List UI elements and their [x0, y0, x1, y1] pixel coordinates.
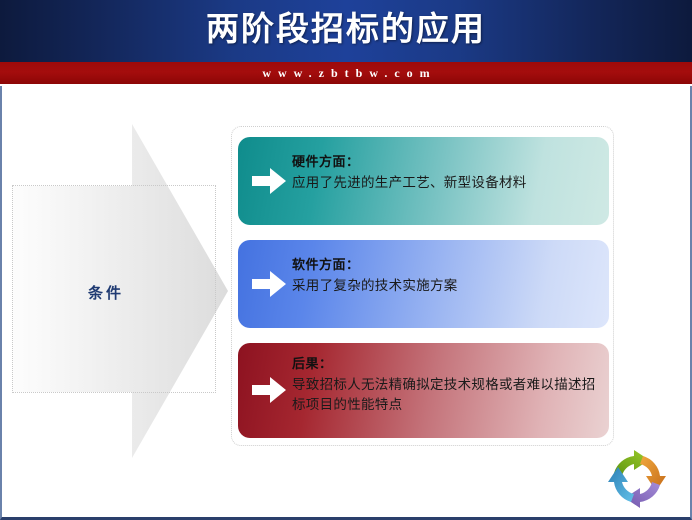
- card-body: 导致招标人无法精确拟定技术规格或者难以描述招标项目的性能特点: [292, 375, 599, 415]
- right-arrow-icon: [252, 376, 286, 404]
- website-url: www.zbtbw.com: [0, 62, 692, 84]
- cards-container: 硬件方面： 应用了先进的生产工艺、新型设备材料 软件方面： 采用了复杂的技术实施…: [231, 126, 614, 446]
- card-heading: 软件方面：: [292, 256, 599, 275]
- card-body: 采用了复杂的技术实施方案: [292, 276, 599, 296]
- card-text-block: 硬件方面： 应用了先进的生产工艺、新型设备材料: [292, 153, 599, 193]
- card-heading: 硬件方面：: [292, 153, 599, 172]
- right-arrow-icon: [252, 167, 286, 195]
- card-text-block: 后果： 导致招标人无法精确拟定技术规格或者难以描述招标项目的性能特点: [292, 355, 599, 415]
- condition-arrow-group: 条件: [12, 124, 228, 458]
- presentation-slide: 两阶段招标的应用 www.zbtbw.com 条件: [0, 0, 692, 520]
- recycle-arrows-logo: [600, 444, 674, 514]
- page-title: 两阶段招标的应用: [0, 8, 692, 52]
- card-heading: 后果：: [292, 355, 599, 374]
- card-body: 应用了先进的生产工艺、新型设备材料: [292, 173, 599, 193]
- card-text-block: 软件方面： 采用了复杂的技术实施方案: [292, 256, 599, 296]
- card-hardware[interactable]: 硬件方面： 应用了先进的生产工艺、新型设备材料: [238, 137, 609, 225]
- card-consequence[interactable]: 后果： 导致招标人无法精确拟定技术规格或者难以描述招标项目的性能特点: [238, 343, 609, 438]
- right-arrow-icon: [252, 270, 286, 298]
- card-software[interactable]: 软件方面： 采用了复杂的技术实施方案: [238, 240, 609, 328]
- arrow-label: 条件: [36, 282, 176, 303]
